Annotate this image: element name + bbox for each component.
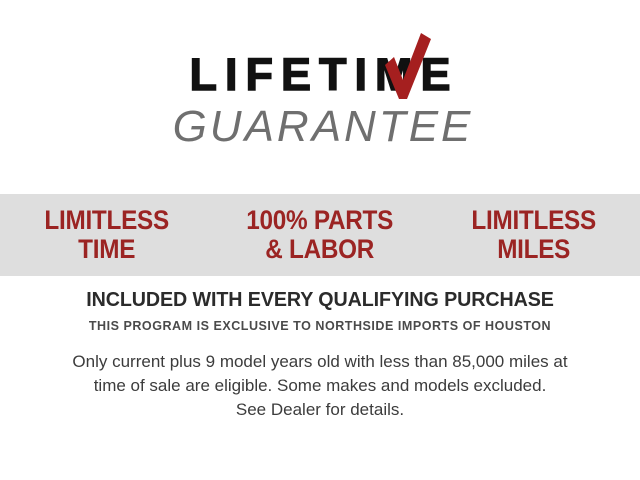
band-column-limitless-miles: LIMITLESS MILES — [437, 206, 629, 264]
band-column-line1: 100% PARTS — [224, 206, 416, 235]
band-column-line1: LIMITLESS — [11, 206, 203, 235]
fineprint-line: time of sale are eligible. Some makes an… — [36, 374, 604, 398]
lifetime-guarantee-ad: LIFETIME GUARANTEE LIMITLESS TIME 100% P… — [0, 0, 640, 480]
fineprint-line: See Dealer for details. — [36, 398, 604, 422]
fineprint-block: Only current plus 9 model years old with… — [36, 350, 604, 422]
band-column-parts-labor: 100% PARTS & LABOR — [224, 206, 416, 264]
logo-primary-text: LIFETIME — [182, 52, 459, 98]
band-column-line2: TIME — [11, 235, 203, 264]
logo-block: LIFETIME GUARANTEE — [0, 52, 640, 152]
headline-text: INCLUDED WITH EVERY QUALIFYING PURCHASE — [13, 288, 627, 312]
band-column-line1: LIMITLESS — [437, 206, 629, 235]
logo-lifetime-row: LIFETIME — [182, 52, 459, 98]
feature-band: LIMITLESS TIME 100% PARTS & LABOR LIMITL… — [0, 194, 640, 276]
fineprint-line: Only current plus 9 model years old with… — [36, 350, 604, 374]
band-column-limitless-time: LIMITLESS TIME — [11, 206, 203, 264]
subheadline-text: THIS PROGRAM IS EXCLUSIVE TO NORTHSIDE I… — [16, 318, 624, 333]
band-column-line2: & LABOR — [224, 235, 416, 264]
lower-copy-block: INCLUDED WITH EVERY QUALIFYING PURCHASE … — [0, 288, 640, 422]
logo-secondary-text: GUARANTEE — [0, 102, 640, 152]
band-column-line2: MILES — [437, 235, 629, 264]
